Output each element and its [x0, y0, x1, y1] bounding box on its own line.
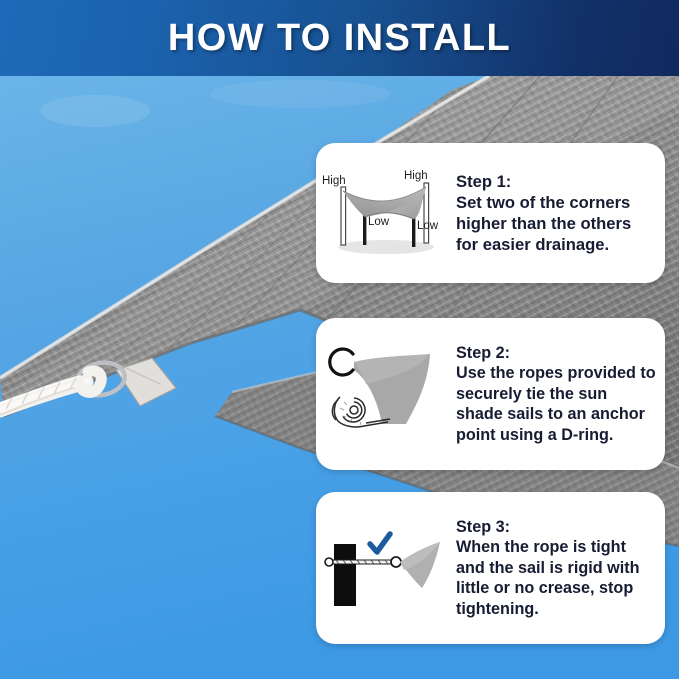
- step-card-2: Step 2: Use the ropes provided to secure…: [316, 318, 665, 470]
- icon-label-low-left: Low: [368, 216, 390, 228]
- step-2-text: Step 2: Use the ropes provided to secure…: [456, 343, 665, 445]
- icon-label-high-left: High: [322, 175, 346, 187]
- icon-label-high-right: High: [404, 170, 428, 182]
- step-1-label: Step 1:: [456, 171, 657, 192]
- shade-sail-posts-icon: High High Low Low: [316, 165, 456, 261]
- icon-label-low-right: Low: [417, 220, 439, 232]
- step-1-text: Step 1: Set two of the corners higher th…: [456, 171, 665, 256]
- step-card-3: Step 3: When the rope is tight and the s…: [316, 492, 665, 644]
- check-icon: [370, 534, 390, 552]
- step-3-label: Step 3:: [456, 517, 657, 537]
- step-card-1: High High Low Low Step 1: Set two of the…: [316, 143, 665, 283]
- page-title: HOW TO INSTALL: [168, 17, 511, 60]
- step-2-label: Step 2:: [456, 343, 657, 363]
- infographic-page: HOW TO INSTALL: [0, 0, 679, 679]
- header-banner: HOW TO INSTALL: [0, 0, 679, 76]
- step-3-body: When the rope is tight and the sail is r…: [456, 537, 657, 619]
- step-1-body: Set two of the corners higher than the o…: [456, 192, 657, 256]
- step-2-body: Use the ropes provided to securely tie t…: [456, 363, 657, 445]
- step-3-text: Step 3: When the rope is tight and the s…: [456, 517, 665, 619]
- d-ring-and-rope-coil-icon: [316, 340, 456, 448]
- taut-rope-post-check-icon: [316, 514, 456, 622]
